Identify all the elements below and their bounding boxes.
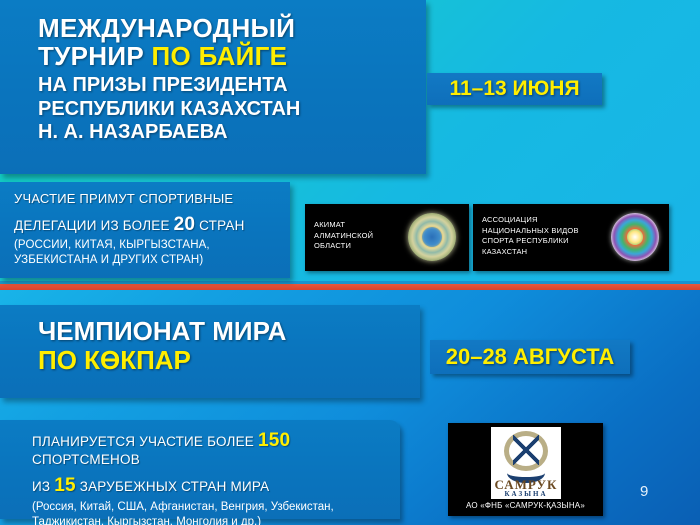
top-info-panel: УЧАСТИЕ ПРИМУТ СПОРТИВНЫЕ ДЕЛЕГАЦИИ ИЗ Б… bbox=[0, 182, 290, 278]
logo-plate-association: АССОЦИАЦИЯ НАЦИОНАЛЬНЫХ ВИДОВ СПОРТА РЕС… bbox=[473, 204, 669, 271]
top-info-row2-number: 20 bbox=[174, 214, 196, 235]
top-title-line2-plain: ТУРНИР bbox=[38, 41, 152, 71]
association-emblem-icon bbox=[611, 213, 659, 261]
bottom-info-panel: ПЛАНИРУЕТСЯ УЧАСТИЕ БОЛЕЕ 150 СПОРТСМЕНО… bbox=[0, 420, 400, 519]
bottom-title-line2: ПО КӨКПАР bbox=[38, 346, 406, 375]
top-subtitle-line2: РЕСПУБЛИКИ КАЗАХСТАН bbox=[38, 98, 412, 122]
samruk-bird-icon bbox=[513, 435, 539, 465]
logo-plate-association-text: АССОЦИАЦИЯ НАЦИОНАЛЬНЫХ ВИДОВ СПОРТА РЕС… bbox=[482, 215, 579, 258]
association-text-line1: АССОЦИАЦИЯ bbox=[482, 215, 579, 226]
akimat-text-line2: АЛМАТИНСКОЙ bbox=[314, 231, 373, 242]
top-date-badge: 11–13 ИЮНЯ bbox=[427, 73, 602, 105]
top-title-line2: ТУРНИР ПО БАЙГЕ bbox=[38, 42, 412, 70]
samruk-caption: АО «ФНБ «САМРУК-ҚАЗЫНА» bbox=[448, 500, 603, 511]
bottom-info-row1-pre: ПЛАНИРУЕТСЯ УЧАСТИЕ БОЛЕЕ bbox=[32, 434, 258, 449]
association-text-line3: СПОРТА РЕСПУБЛИКИ bbox=[482, 236, 579, 247]
top-title-line2-highlight: ПО БАЙГЕ bbox=[152, 41, 288, 71]
top-title-line1: МЕЖДУНАРОДНЫЙ bbox=[38, 14, 412, 42]
akimat-emblem-icon bbox=[408, 213, 456, 261]
bottom-title-panel: ЧЕМПИОНАТ МИРА ПО КӨКПАР bbox=[0, 305, 420, 398]
top-info-row3-line1: (РОССИИ, КИТАЯ, КЫРГЫЗСТАНА, bbox=[14, 238, 280, 253]
bottom-info-row3-line1: (Россия, Китай, США, Афганистан, Венгрия… bbox=[32, 500, 390, 515]
logo-plate-samruk-kazyna: САМРУК КАЗЫНА АО «ФНБ «САМРУК-ҚАЗЫНА» bbox=[448, 423, 603, 516]
top-info-row2: ДЕЛЕГАЦИИ ИЗ БОЛЕЕ 20 СТРАН bbox=[14, 214, 280, 236]
bottom-info-row1-post: СПОРТСМЕНОВ bbox=[32, 452, 140, 467]
akimat-text-line3: ОБЛАСТИ bbox=[314, 241, 373, 252]
logo-plate-akimat-text: АКИМАТ АЛМАТИНСКОЙ ОБЛАСТИ bbox=[314, 220, 373, 252]
association-text-line4: КАЗАХСТАН bbox=[482, 247, 579, 258]
top-info-row1: УЧАСТИЕ ПРИМУТ СПОРТИВНЫЕ bbox=[14, 191, 280, 206]
top-subtitle-line1: НА ПРИЗЫ ПРЕЗИДЕНТА bbox=[38, 74, 412, 98]
presentation-slide: МЕЖДУНАРОДНЫЙ ТУРНИР ПО БАЙГЕ НА ПРИЗЫ П… bbox=[0, 0, 700, 525]
bottom-info-row2-number: 15 bbox=[54, 475, 76, 496]
bottom-info-row1: ПЛАНИРУЕТСЯ УЧАСТИЕ БОЛЕЕ 150 СПОРТСМЕНО… bbox=[32, 430, 390, 467]
samruk-kazyna-logo-icon: САМРУК КАЗЫНА bbox=[491, 427, 561, 499]
top-info-row3-line2: УЗБЕКИСТАНА И ДРУГИХ СТРАН) bbox=[14, 253, 280, 268]
bottom-date-badge: 20–28 АВГУСТА bbox=[430, 340, 630, 374]
bottom-info-row2-pre: ИЗ bbox=[32, 479, 54, 494]
top-subtitle-line3: Н. А. НАЗАРБАЕВА bbox=[38, 121, 412, 145]
association-text-line2: НАЦИОНАЛЬНЫХ ВИДОВ bbox=[482, 226, 579, 237]
top-info-row2-pre: ДЕЛЕГАЦИИ ИЗ БОЛЕЕ bbox=[14, 218, 174, 233]
logo-plate-akimat: АКИМАТ АЛМАТИНСКОЙ ОБЛАСТИ bbox=[305, 204, 469, 271]
bottom-info-row3-line2: Таджикистан, Кыргызстан, Монголия и др.) bbox=[32, 515, 390, 525]
bottom-info-row1-number: 150 bbox=[258, 430, 290, 451]
bottom-info-row2-post: ЗАРУБЕЖНЫХ СТРАН МИРА bbox=[76, 479, 270, 494]
top-title-panel: МЕЖДУНАРОДНЫЙ ТУРНИР ПО БАЙГЕ НА ПРИЗЫ П… bbox=[0, 0, 426, 174]
akimat-text-line1: АКИМАТ bbox=[314, 220, 373, 231]
bottom-info-row2: ИЗ 15 ЗАРУБЕЖНЫХ СТРАН МИРА bbox=[32, 475, 390, 497]
samruk-mark-line2: КАЗЫНА bbox=[491, 490, 561, 498]
page-number: 9 bbox=[640, 483, 700, 517]
bottom-title-line1: ЧЕМПИОНАТ МИРА bbox=[38, 317, 406, 346]
top-info-row2-post: СТРАН bbox=[195, 218, 244, 233]
